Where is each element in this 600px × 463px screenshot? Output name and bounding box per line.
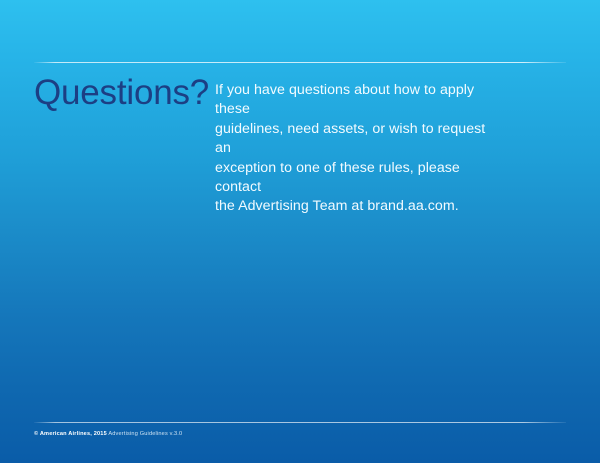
body-copy-block: If you have questions about how to apply…	[215, 81, 505, 217]
footer-copyright: © American Airlines, 2015	[34, 431, 107, 437]
footer-document-title: Advertising Guidelines v.3.0	[108, 431, 182, 437]
footer: © American Airlines, 2015 Advertising Gu…	[34, 430, 182, 438]
body-line-3: exception to one of these rules, please …	[215, 159, 505, 198]
page-title: Questions?	[34, 73, 209, 113]
slide-canvas: Questions? If you have questions about h…	[0, 0, 600, 463]
divider-top	[34, 62, 566, 63]
body-line-4: the Advertising Team at brand.aa.com.	[215, 197, 505, 216]
divider-bottom	[34, 422, 566, 423]
body-line-2: guidelines, need assets, or wish to requ…	[215, 120, 505, 159]
body-line-1: If you have questions about how to apply…	[215, 81, 505, 120]
